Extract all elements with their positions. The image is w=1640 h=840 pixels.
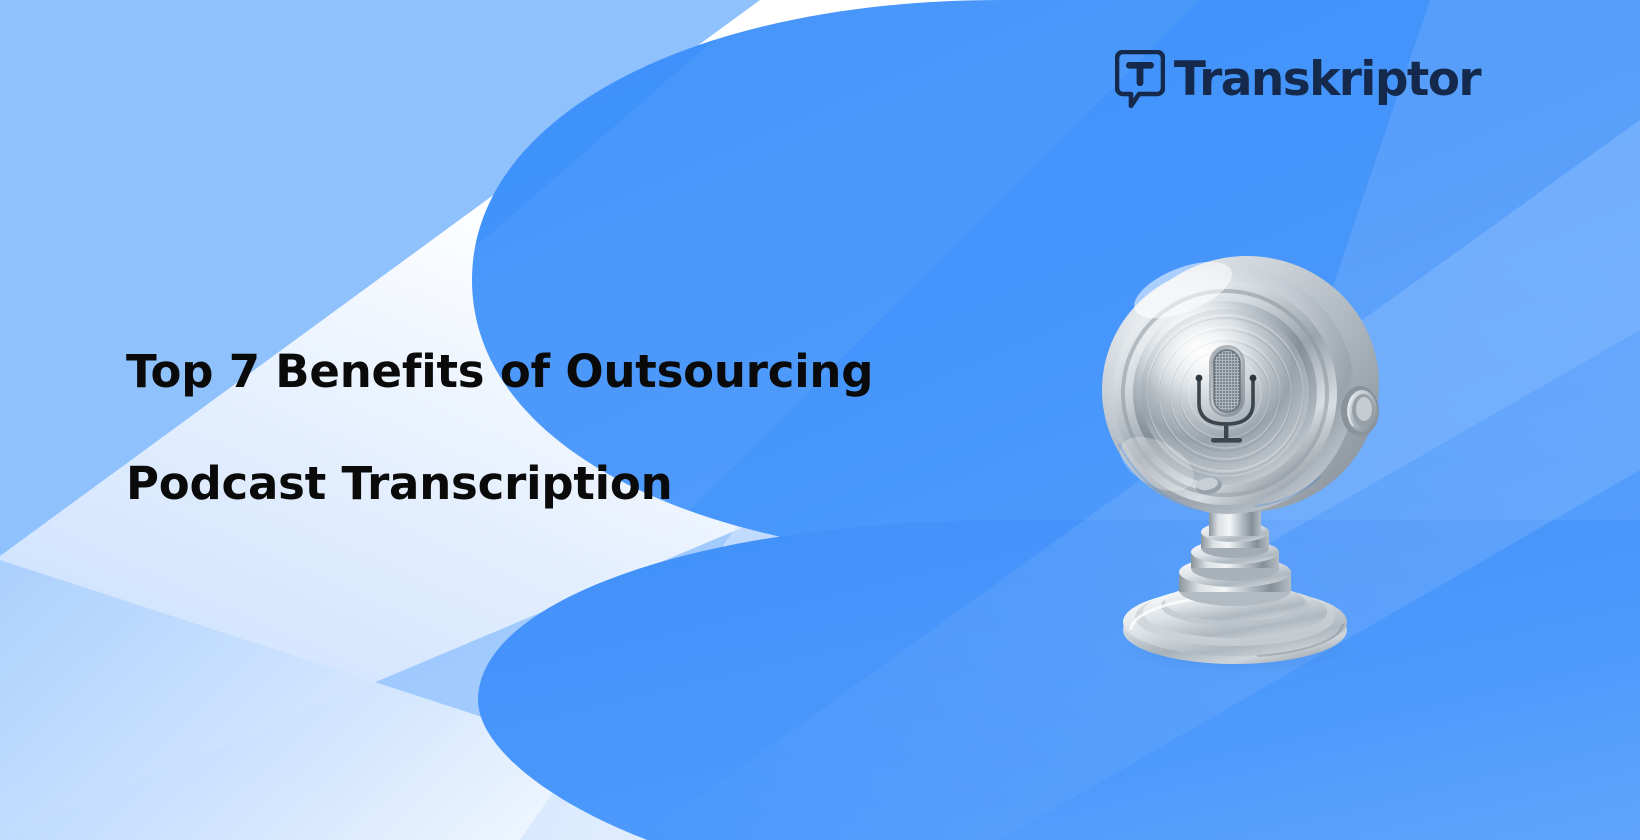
brand-logo[interactable]: Transkriptor <box>1115 46 1480 112</box>
microphone-illustration <box>1085 238 1415 678</box>
brand-name: Transkriptor <box>1174 56 1480 103</box>
speech-bubble-t-icon <box>1115 50 1165 108</box>
side-button <box>1341 386 1379 436</box>
cover-canvas: Top 7 Benefits of Outsourcing Podcast Tr… <box>0 0 1640 840</box>
